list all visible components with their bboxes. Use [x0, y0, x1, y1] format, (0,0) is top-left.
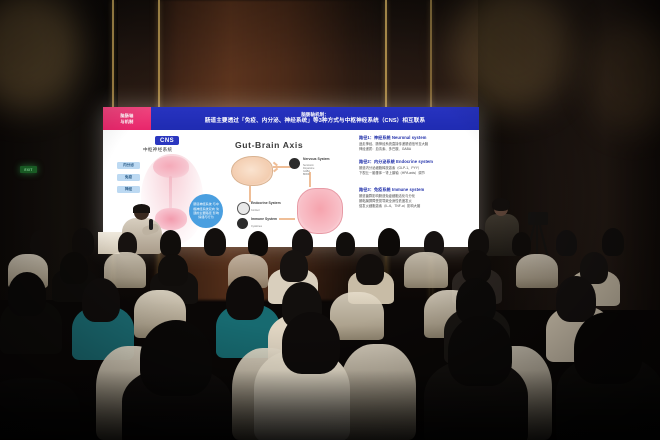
nervous-system-label: Nervous System	[303, 157, 347, 161]
slide-section-tab-line2: 与机制	[120, 119, 133, 124]
audience-person-head	[226, 276, 264, 320]
audience-person	[512, 232, 531, 256]
endocrine-system-item: Cortisol	[251, 209, 259, 212]
floor-shadow	[0, 370, 660, 440]
diagram-title: Gut-Brain Axis	[235, 140, 303, 150]
cns-pill-endocrine: 内分泌	[117, 162, 140, 169]
audience-person-head	[8, 272, 46, 316]
text-block-line: 迷走神经、肠神经系统直接传递肠道信号至大脑	[359, 142, 428, 146]
text-block-line: 下视丘－脑垂体－肾上腺轴（HPA axis）调节	[359, 171, 425, 175]
audience-person-head	[356, 254, 384, 285]
brain-illustration	[153, 156, 189, 178]
cns-callout-bubble: 肠道神经系统 与中枢神经系统双向 沟通的主要路径 影响情绪与行为	[189, 194, 223, 228]
text-block-line: 肠道菌群影响肠道免疫细胞活化与分化	[359, 194, 415, 198]
arrow-head	[273, 168, 278, 172]
audience-person-head	[82, 278, 120, 322]
audience-person	[30, 230, 50, 256]
audience-person-head	[282, 312, 340, 374]
immune-system-label: Immune System	[251, 217, 291, 221]
text-block-heading-3: 路径3：免疫系统 Immune system	[359, 187, 424, 193]
arrow-brain-down	[249, 186, 251, 202]
audience-person	[160, 230, 181, 256]
text-block-line: 促发炎细胞激素（IL-6、TNF-α）影响大脑	[359, 204, 420, 208]
conference-hall-scene: EXIT 脑肠轴 与机制 脑肠轴机制： 肠道主要透过「免疫、内分泌、神经系统」等…	[0, 0, 660, 440]
slide-header: 脑肠轴 与机制 脑肠轴机制： 肠道主要透过「免疫、内分泌、神经系统」等3种方式与…	[103, 107, 479, 130]
cns-badge: CNS	[155, 136, 179, 145]
audience-chair	[516, 254, 558, 288]
audience-area	[0, 228, 660, 440]
text-block-line: 肠黏膜屏障受损导致全身性低度发炎	[359, 199, 412, 203]
text-block-heading-1: 路径1：神经系统 Neuronal system	[359, 135, 426, 141]
endocrine-system-label: Endocrine System	[251, 201, 291, 205]
exit-sign: EXIT	[20, 166, 37, 173]
audience-person-head	[158, 254, 188, 286]
nervous-system-item: BDNF	[303, 173, 310, 176]
cns-subtitle: 中枢神经系统	[143, 147, 172, 153]
video-camera-icon	[528, 212, 548, 225]
nervous-system-node-icon	[289, 158, 300, 169]
text-block-heading-2: 路径2：内分泌系统 Endocrine system	[359, 159, 433, 165]
audience-person	[204, 228, 226, 256]
audience-person	[248, 231, 268, 256]
audience-person-head	[280, 250, 308, 282]
audience-person	[602, 228, 624, 256]
audience-chair	[404, 252, 448, 288]
cns-pill-nervous: 神经	[117, 186, 140, 193]
diagram-brain-icon	[231, 156, 273, 186]
audience-person-head	[556, 276, 596, 322]
speaker-hair	[133, 204, 150, 213]
slide-title-line2: 肠道主要透过「免疫、内分泌、神经系统」等3种方式与中枢神经系统（CNS）相互联系	[205, 118, 425, 125]
cns-pill-immune: 免疫	[117, 174, 140, 181]
audience-person	[378, 228, 400, 256]
text-block-line: 神经递质：血清素、多巴胺、GABA	[359, 147, 411, 151]
audience-person-head	[60, 252, 88, 284]
audience-person	[336, 232, 355, 256]
slide-section-tab: 脑肠轴 与机制	[103, 107, 151, 130]
audience-person	[556, 230, 577, 256]
slide-title-bar: 脑肠轴机制： 肠道主要透过「免疫、内分泌、神经系统」等3种方式与中枢神经系统（C…	[151, 107, 479, 130]
text-block-line: 肠道内分泌细胞释放激素（GLP-1、PYY）	[359, 166, 421, 170]
moderator-hair	[492, 198, 510, 211]
endocrine-system-node-icon	[237, 202, 250, 215]
